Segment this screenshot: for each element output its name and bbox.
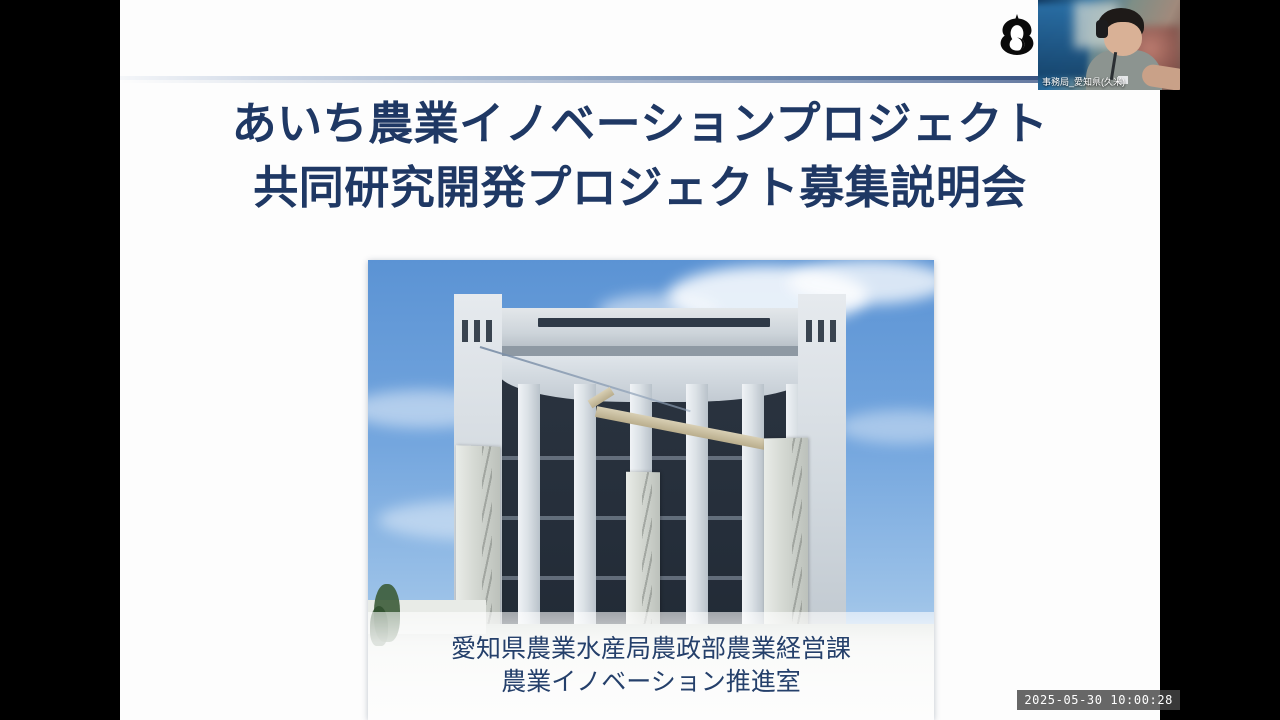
photo-tower-window <box>462 320 468 342</box>
recording-timestamp: 2025-05-30 10:00:28 <box>1017 690 1180 710</box>
shared-slide: あいち農業イノベーションプロジェクト 共同研究開発プロジェクト募集説明会 <box>120 0 1160 720</box>
letterbox-left <box>0 0 120 720</box>
photo-tower-window <box>486 320 492 342</box>
slide-top-rule-soft <box>120 80 1160 83</box>
participant-name-label: 事務局_愛知県(久米) <box>1038 76 1180 88</box>
slide-title-line-1: あいち農業イノベーションプロジェクト <box>120 96 1160 152</box>
slide-title-block: あいち農業イノベーションプロジェクト 共同研究開発プロジェクト募集説明会 <box>120 96 1160 216</box>
screen-share-stage: あいち農業イノベーションプロジェクト 共同研究開発プロジェクト募集説明会 <box>0 0 1280 720</box>
slide-canvas: あいち農業イノベーションプロジェクト 共同研究開発プロジェクト募集説明会 <box>120 0 1160 720</box>
letterbox-right <box>1160 0 1280 720</box>
photo-tower-window <box>818 320 824 342</box>
slide-title-line-2: 共同研究開発プロジェクト募集説明会 <box>120 160 1160 216</box>
aichi-prefecture-emblem-icon <box>997 13 1037 57</box>
photo-building-arch <box>498 356 814 402</box>
photo-caption-line-1: 愛知県農業水産局農政部農業経営課 <box>451 633 851 666</box>
photo-building-cap-slot <box>538 318 770 327</box>
photo-caption-band: 愛知県農業水産局農政部農業経営課 農業イノベーション推進室 <box>368 612 934 720</box>
headset-icon <box>1096 20 1108 38</box>
participant-video-thumbnail[interactable]: 事務局_愛知県(久米) <box>1038 0 1180 90</box>
thumbnail-person-face <box>1104 22 1142 56</box>
photo-tower-window <box>830 320 836 342</box>
building-photo: 愛知県農業水産局農政部農業経営課 農業イノベーション推進室 <box>368 260 934 720</box>
photo-tower-window <box>806 320 812 342</box>
photo-caption-line-2: 農業イノベーション推進室 <box>501 666 801 699</box>
photo-tower-window <box>474 320 480 342</box>
photo-building-cap-shadow <box>476 346 836 356</box>
